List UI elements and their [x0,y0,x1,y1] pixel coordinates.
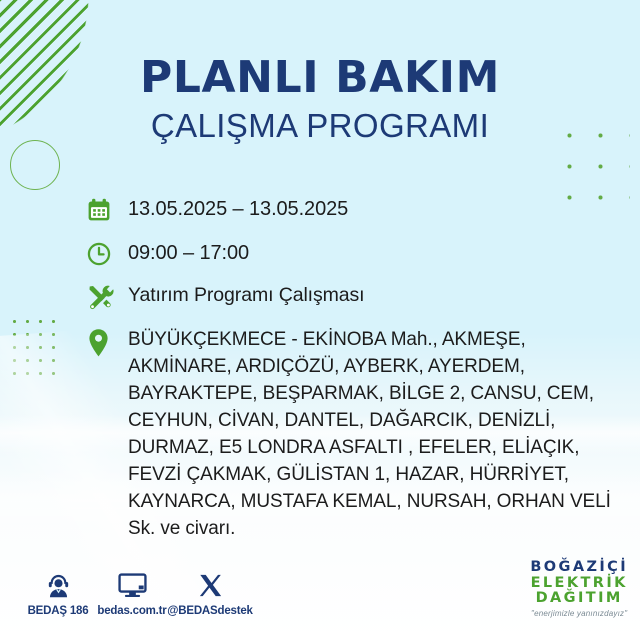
date-range-text: 13.05.2025 – 13.05.2025 [128,196,348,223]
circle-outline-decoration [10,140,60,190]
info-row-location: BÜYÜKÇEKMECE - EKİNOBA Mah., AKMEŞE, AKM… [86,327,626,543]
logo-tagline: "enerjimizle yanınızdayız" [530,609,628,618]
location-line: CEYHUN, CİVAN, DANTEL, DAĞARCIK, DENİZLİ… [128,410,555,431]
calendar-icon [86,196,128,223]
logo-line-1: BOĞAZİÇİ [530,560,628,576]
info-row-work-type: Yatırım Programı Çalışması [86,282,626,311]
tools-icon [86,282,128,311]
location-line: FEVZİ ÇAKMAK, GÜLİSTAN 1, HAZAR, HÜRRİYE… [128,464,569,485]
map-pin-icon [86,327,128,358]
info-row-date: 13.05.2025 – 13.05.2025 [86,196,626,223]
info-list: 13.05.2025 – 13.05.2025 09:00 – 17:00 [86,196,626,557]
logo-line-2: ELEKTRİK [530,576,628,592]
location-line: BAYRAKTEPE, BEŞPARMAK, BİLGE 2, CANSU, C… [128,383,594,404]
page-title-block: PLANLI BAKIM ÇALIŞMA PROGRAMI [0,56,640,142]
time-range-text: 09:00 – 17:00 [128,240,249,267]
logo-line-3: DAĞITIM [530,591,628,607]
contact-x-label: @BEDASdestek [150,605,270,617]
page-subtitle: ÇALIŞMA PROGRAMI [0,109,640,142]
dot-grid-decoration-left [6,313,56,375]
location-line: BÜYÜKÇEKMECE - EKİNOBA Mah., AKMEŞE, [128,329,526,350]
x-twitter-icon [150,570,270,600]
location-text: BÜYÜKÇEKMECE - EKİNOBA Mah., AKMEŞE, AKM… [128,327,611,543]
bedas-logo: BOĞAZİÇİ ELEKTRİK DAĞITIM "enerjimizle y… [530,560,628,618]
footer: BEDAŞ 186 bedas.com.tr @BEDASdestek [0,570,640,632]
location-line: AKMİNARE, ARDIÇÖZÜ, AYBERK, AYERDEM, [128,356,525,377]
page-title: PLANLI BAKIM [0,56,640,100]
info-row-time: 09:00 – 17:00 [86,240,626,267]
location-line: Sk. ve civarı. [128,518,235,539]
work-type-text: Yatırım Programı Çalışması [128,282,365,308]
location-line: DURMAZ, E5 LONDRA ASFALTI , EFELER, ELİA… [128,437,579,458]
location-line: KAYNARCA, MUSTAFA KEMAL, NURSAH, ORHAN V… [128,491,611,512]
clock-icon [86,240,128,267]
contact-x-account[interactable]: @BEDASdestek [150,570,270,617]
planned-maintenance-card: PLANLI BAKIM ÇALIŞMA PROGRAMI 13 [0,0,640,640]
